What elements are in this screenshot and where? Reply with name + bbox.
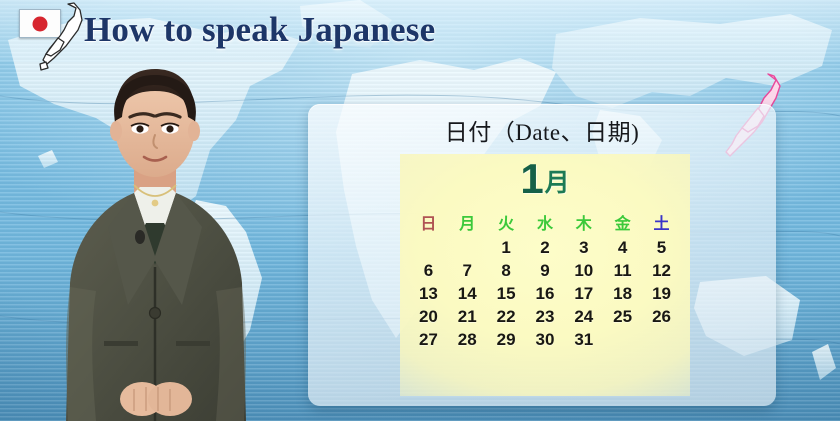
presenter-figure: [30, 55, 280, 421]
calendar-day-19[interactable]: 19: [642, 282, 681, 305]
calendar-day-24[interactable]: 24: [564, 305, 603, 328]
calendar-day-3[interactable]: 3: [564, 236, 603, 259]
calendar-day-18[interactable]: 18: [603, 282, 642, 305]
calendar-day-23[interactable]: 23: [526, 305, 565, 328]
calendar-weekday-1: 月: [448, 210, 487, 236]
calendar-day-9[interactable]: 9: [526, 259, 565, 282]
calendar-table: 日月火水木金土 12345678910111213141516171819202…: [409, 210, 681, 351]
calendar-weekday-header-row: 日月火水木金土: [409, 210, 681, 236]
slide-heading: 日付（Date、日期): [308, 113, 776, 147]
calendar-week-row: 13141516171819: [409, 282, 681, 305]
calendar-day-empty: [448, 236, 487, 259]
calendar-weekday-6: 土: [642, 210, 681, 236]
calendar-day-31[interactable]: 31: [564, 328, 603, 351]
calendar-day-empty: [642, 328, 681, 351]
calendar-day-14[interactable]: 14: [448, 282, 487, 305]
calendar-day-6[interactable]: 6: [409, 259, 448, 282]
calendar-week-row: 6789101112: [409, 259, 681, 282]
calendar-day-empty: [409, 236, 448, 259]
calendar-day-13[interactable]: 13: [409, 282, 448, 305]
calendar-weekday-3: 水: [526, 210, 565, 236]
calendar-day-8[interactable]: 8: [487, 259, 526, 282]
calendar-day-7[interactable]: 7: [448, 259, 487, 282]
calendar-month-title: 1月: [400, 158, 690, 200]
month-number: 1: [520, 155, 543, 202]
calendar-day-12[interactable]: 12: [642, 259, 681, 282]
calendar-day-29[interactable]: 29: [487, 328, 526, 351]
calendar-day-4[interactable]: 4: [603, 236, 642, 259]
slide-panel: 日付（Date、日期) 1月 日月火水木金土 12345678910111213…: [308, 104, 776, 406]
calendar-weekday-0: 日: [409, 210, 448, 236]
calendar-day-10[interactable]: 10: [564, 259, 603, 282]
screen: How to speak Japanese: [0, 0, 840, 421]
title-bar: How to speak Japanese: [0, 0, 840, 62]
calendar-day-15[interactable]: 15: [487, 282, 526, 305]
calendar-week-row: 12345: [409, 236, 681, 259]
calendar-weekday-2: 火: [487, 210, 526, 236]
month-kanji: 月: [545, 169, 570, 197]
calendar-week-row: 20212223242526: [409, 305, 681, 328]
calendar-day-2[interactable]: 2: [526, 236, 565, 259]
calendar-day-30[interactable]: 30: [526, 328, 565, 351]
calendar-day-1[interactable]: 1: [487, 236, 526, 259]
calendar-day-16[interactable]: 16: [526, 282, 565, 305]
calendar-day-22[interactable]: 22: [487, 305, 526, 328]
calendar-day-11[interactable]: 11: [603, 259, 642, 282]
calendar-day-20[interactable]: 20: [409, 305, 448, 328]
calendar-day-27[interactable]: 27: [409, 328, 448, 351]
calendar-card: 1月 日月火水木金土 12345678910111213141516171819…: [400, 154, 690, 396]
calendar-day-25[interactable]: 25: [603, 305, 642, 328]
calendar-week-row: 2728293031: [409, 328, 681, 351]
calendar-day-empty: [603, 328, 642, 351]
calendar-day-5[interactable]: 5: [642, 236, 681, 259]
page-title: How to speak Japanese: [84, 10, 435, 50]
calendar-weekday-5: 金: [603, 210, 642, 236]
calendar-day-17[interactable]: 17: [564, 282, 603, 305]
calendar-day-21[interactable]: 21: [448, 305, 487, 328]
calendar-day-26[interactable]: 26: [642, 305, 681, 328]
calendar-weekday-4: 木: [564, 210, 603, 236]
calendar-day-28[interactable]: 28: [448, 328, 487, 351]
